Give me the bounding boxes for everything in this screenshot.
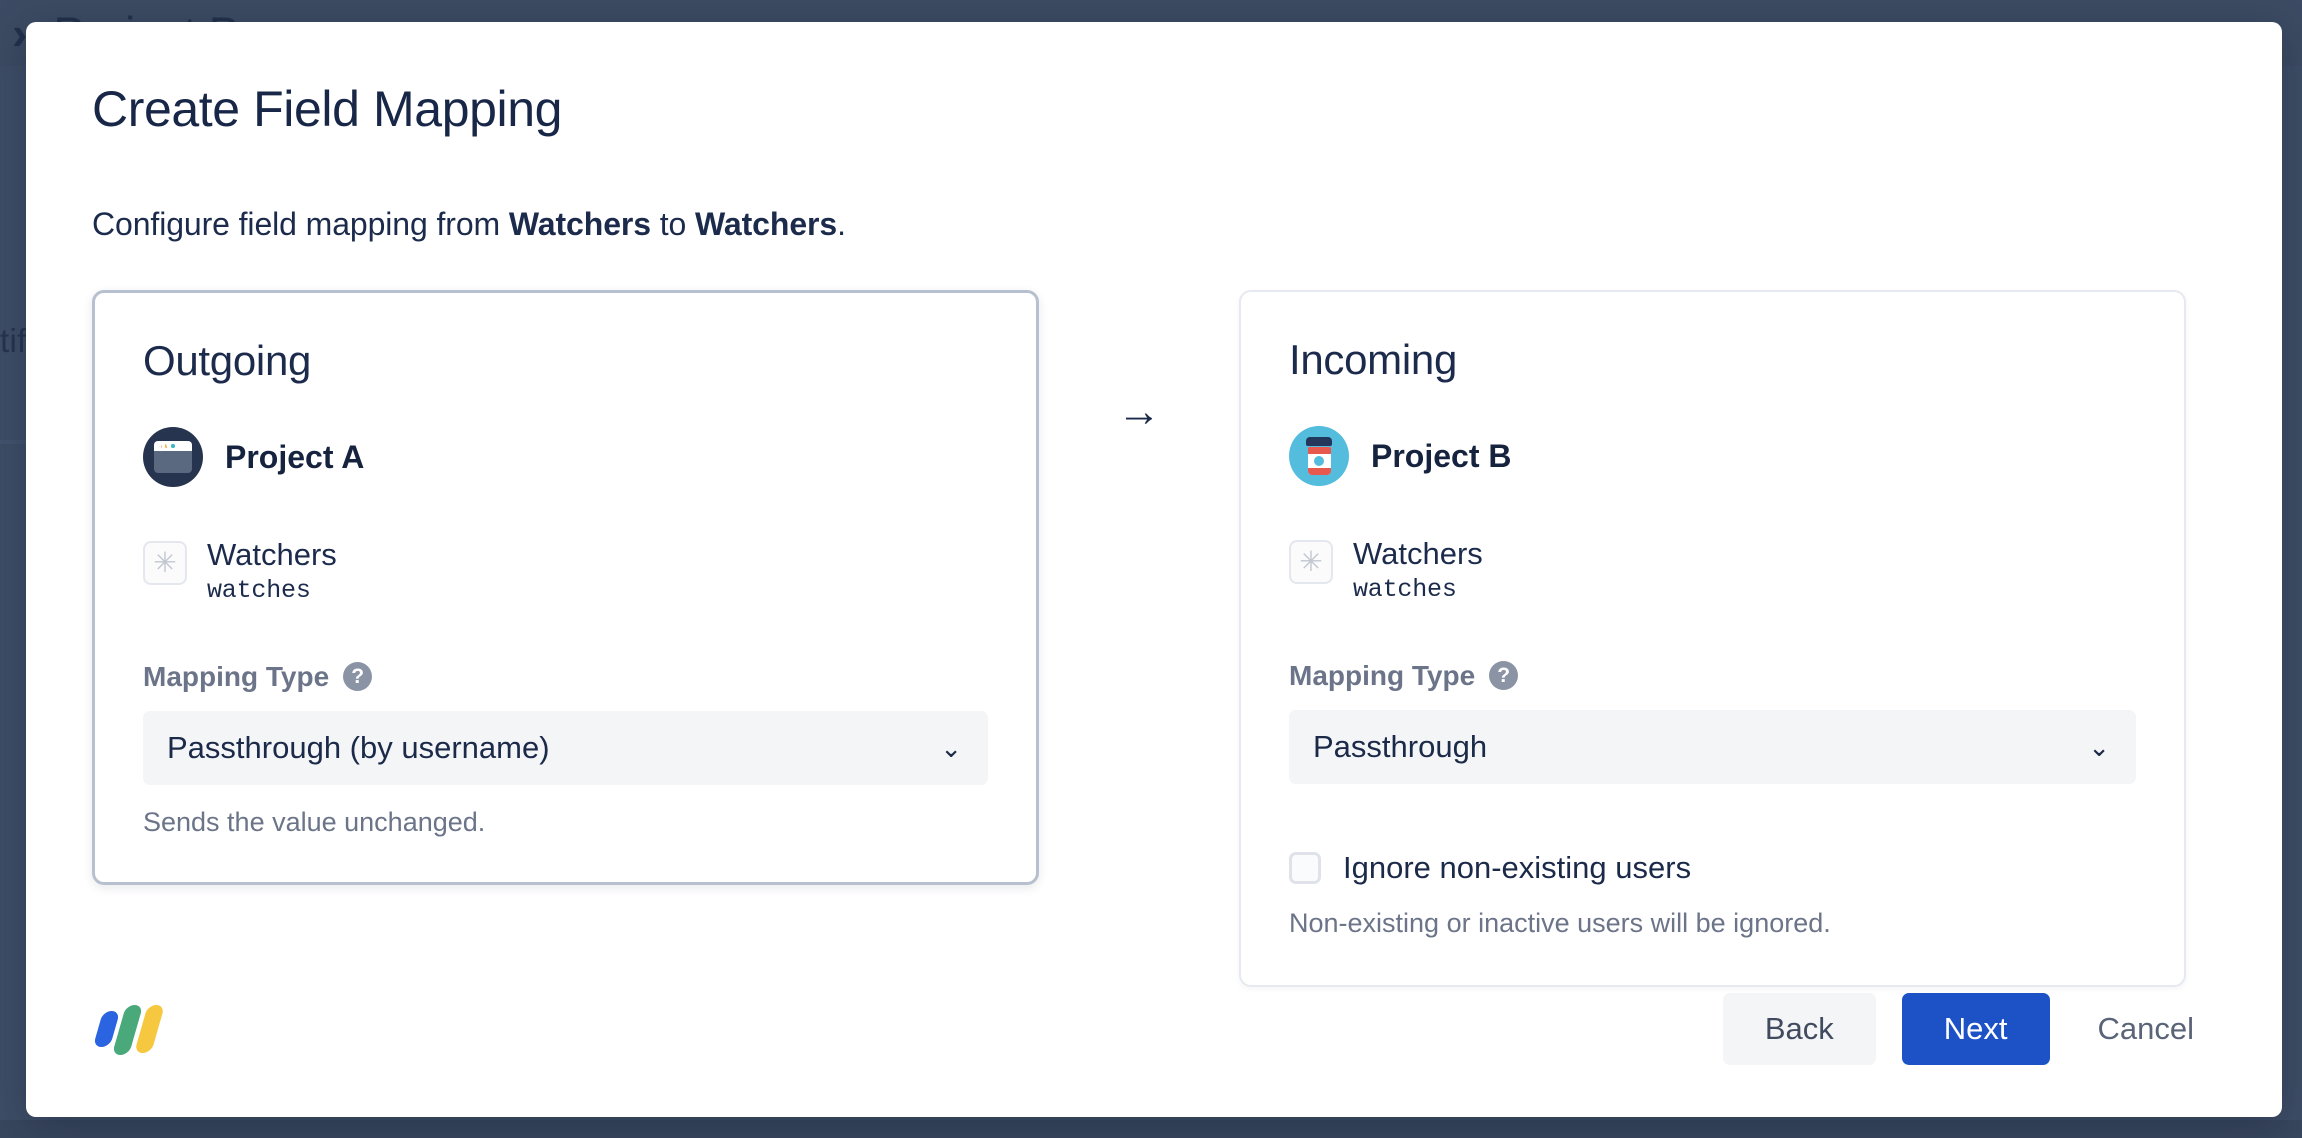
outgoing-panel[interactable]: Outgoing Project A ✳ <box>92 290 1039 885</box>
outgoing-field-label: Watchers <box>207 537 337 572</box>
backdrop-side-text: tif <box>0 322 27 360</box>
outgoing-project-name: Project A <box>225 439 364 476</box>
incoming-field-key: watches <box>1353 575 1483 604</box>
outgoing-mapping-label: Mapping Type <box>143 661 329 693</box>
incoming-mapping-type-select[interactable]: Passthrough ⌄ <box>1289 710 2136 784</box>
incoming-mapping-label: Mapping Type <box>1289 660 1475 692</box>
outgoing-mapping-block: Mapping Type ? Passthrough (by username)… <box>143 661 988 838</box>
incoming-mapping-label-row: Mapping Type ? <box>1289 660 2136 692</box>
subtitle-target-field: Watchers <box>695 206 837 242</box>
dialog-subtitle: Configure field mapping from Watchers to… <box>92 206 2216 243</box>
incoming-field-label: Watchers <box>1353 536 1483 571</box>
cup-body <box>1308 447 1331 475</box>
outgoing-field-key: watches <box>207 576 337 605</box>
help-icon[interactable]: ? <box>1489 661 1518 690</box>
subtitle-middle: to <box>651 206 695 242</box>
coffee-cup-avatar-icon <box>1289 426 1349 486</box>
incoming-project-name: Project B <box>1371 438 1511 475</box>
outgoing-mapping-type-value: Passthrough (by username) <box>167 730 550 766</box>
dialog-footer: Back Next Cancel <box>92 993 2216 1065</box>
incoming-mapping-block: Mapping Type ? Passthrough ⌄ <box>1289 660 2136 784</box>
incoming-project-row: Project B <box>1289 426 2136 486</box>
cup-logo <box>1314 456 1324 466</box>
create-field-mapping-dialog: Create Field Mapping Configure field map… <box>26 22 2282 1117</box>
page-title: Create Field Mapping <box>92 80 2216 138</box>
subtitle-suffix: . <box>837 206 846 242</box>
incoming-heading: Incoming <box>1289 336 2136 384</box>
subtitle-source-field: Watchers <box>509 206 651 242</box>
cup-lid <box>1306 437 1332 446</box>
starburst-icon: ✳ <box>143 541 187 585</box>
incoming-mapping-type-value: Passthrough <box>1313 729 1487 765</box>
outgoing-mapping-type-select[interactable]: Passthrough (by username) ⌄ <box>143 711 988 785</box>
outgoing-mapping-label-row: Mapping Type ? <box>143 661 988 693</box>
brand-logo-icon <box>92 997 166 1061</box>
coffee-cup-shape <box>1306 437 1332 475</box>
ignore-non-existing-users-label: Ignore non-existing users <box>1343 850 1691 886</box>
footer-buttons: Back Next Cancel <box>1723 993 2216 1065</box>
backdrop-bottom-bar <box>0 1120 2302 1138</box>
incoming-panel[interactable]: Incoming Project B ✳ <box>1239 290 2186 987</box>
incoming-field-text: Watchers watches <box>1353 538 1483 604</box>
chevron-down-icon: ⌄ <box>2088 734 2110 760</box>
outgoing-heading: Outgoing <box>143 337 988 385</box>
arrow-right-icon: → <box>1039 290 1239 434</box>
outgoing-mapping-hint: Sends the value unchanged. <box>143 807 988 838</box>
subtitle-prefix: Configure field mapping from <box>92 206 509 242</box>
cancel-button[interactable]: Cancel <box>2076 993 2217 1065</box>
outgoing-field-text: Watchers watches <box>207 539 337 605</box>
mapping-row: Outgoing Project A ✳ <box>92 290 2216 987</box>
outgoing-field-row: ✳ Watchers watches <box>143 539 988 605</box>
ignore-non-existing-users-checkbox-row[interactable]: Ignore non-existing users <box>1289 850 2136 886</box>
starburst-icon: ✳ <box>1289 540 1333 584</box>
help-icon[interactable]: ? <box>343 662 372 691</box>
incoming-field-row: ✳ Watchers watches <box>1289 538 2136 604</box>
ignore-non-existing-users-checkbox[interactable] <box>1289 852 1321 884</box>
browser-window-avatar-icon <box>143 427 203 487</box>
back-button[interactable]: Back <box>1723 993 1876 1065</box>
outgoing-project-row: Project A <box>143 427 988 487</box>
next-button[interactable]: Next <box>1902 993 2050 1065</box>
browser-dot-teal-icon <box>171 444 175 448</box>
incoming-option-hint: Non-existing or inactive users will be i… <box>1289 908 2136 939</box>
cup-stripe-bottom <box>1308 468 1331 475</box>
cup-stripe-top <box>1308 447 1331 454</box>
chevron-down-icon: ⌄ <box>940 735 962 761</box>
